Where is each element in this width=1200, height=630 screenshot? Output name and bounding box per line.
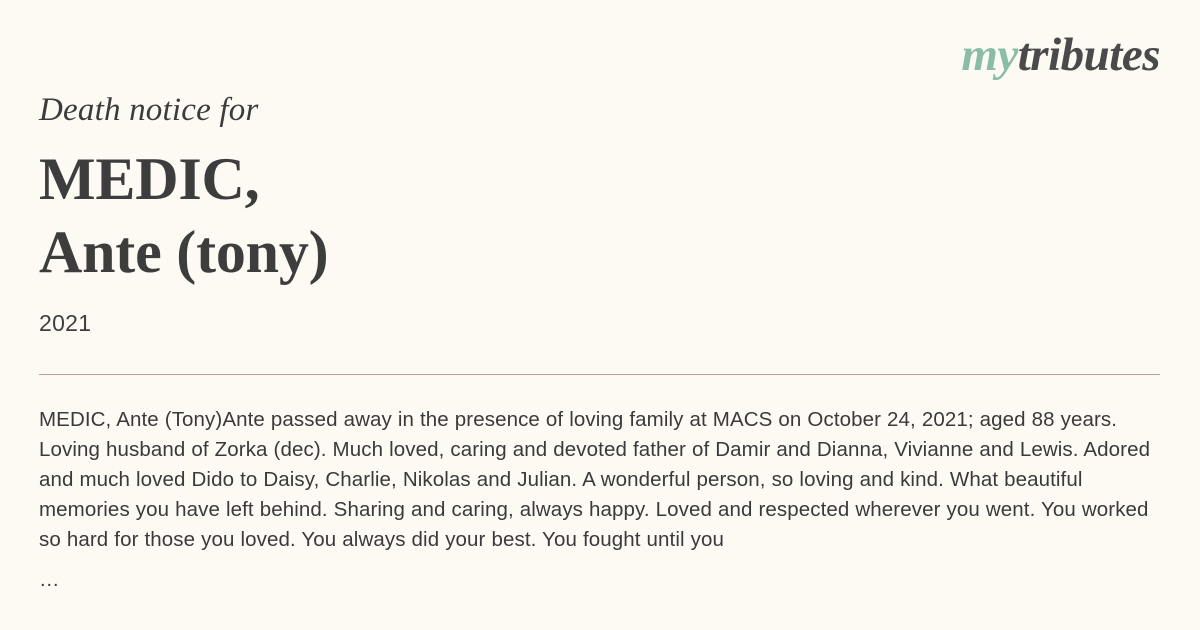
notice-truncation-ellipsis: … (39, 569, 1171, 591)
death-notice-page: mytributes Death notice for MEDIC, Ante … (0, 0, 1200, 630)
notice-body-paragraph: MEDIC, Ante (Tony)Ante passed away in th… (39, 408, 1150, 551)
deceased-givenname: Ante (tony) (39, 216, 1161, 289)
page-title: MEDIC, Ante (tony) (39, 128, 1161, 289)
page-eyebrow: Death notice for (39, 0, 1161, 128)
notice-year: 2021 (39, 290, 1161, 335)
notice-body-text: MEDIC, Ante (Tony)Ante passed away in th… (39, 405, 1171, 591)
header-divider (39, 374, 1160, 375)
notice-content: Death notice for MEDIC, Ante (tony) 2021… (39, 0, 1161, 591)
deceased-surname: MEDIC, (39, 143, 1161, 216)
